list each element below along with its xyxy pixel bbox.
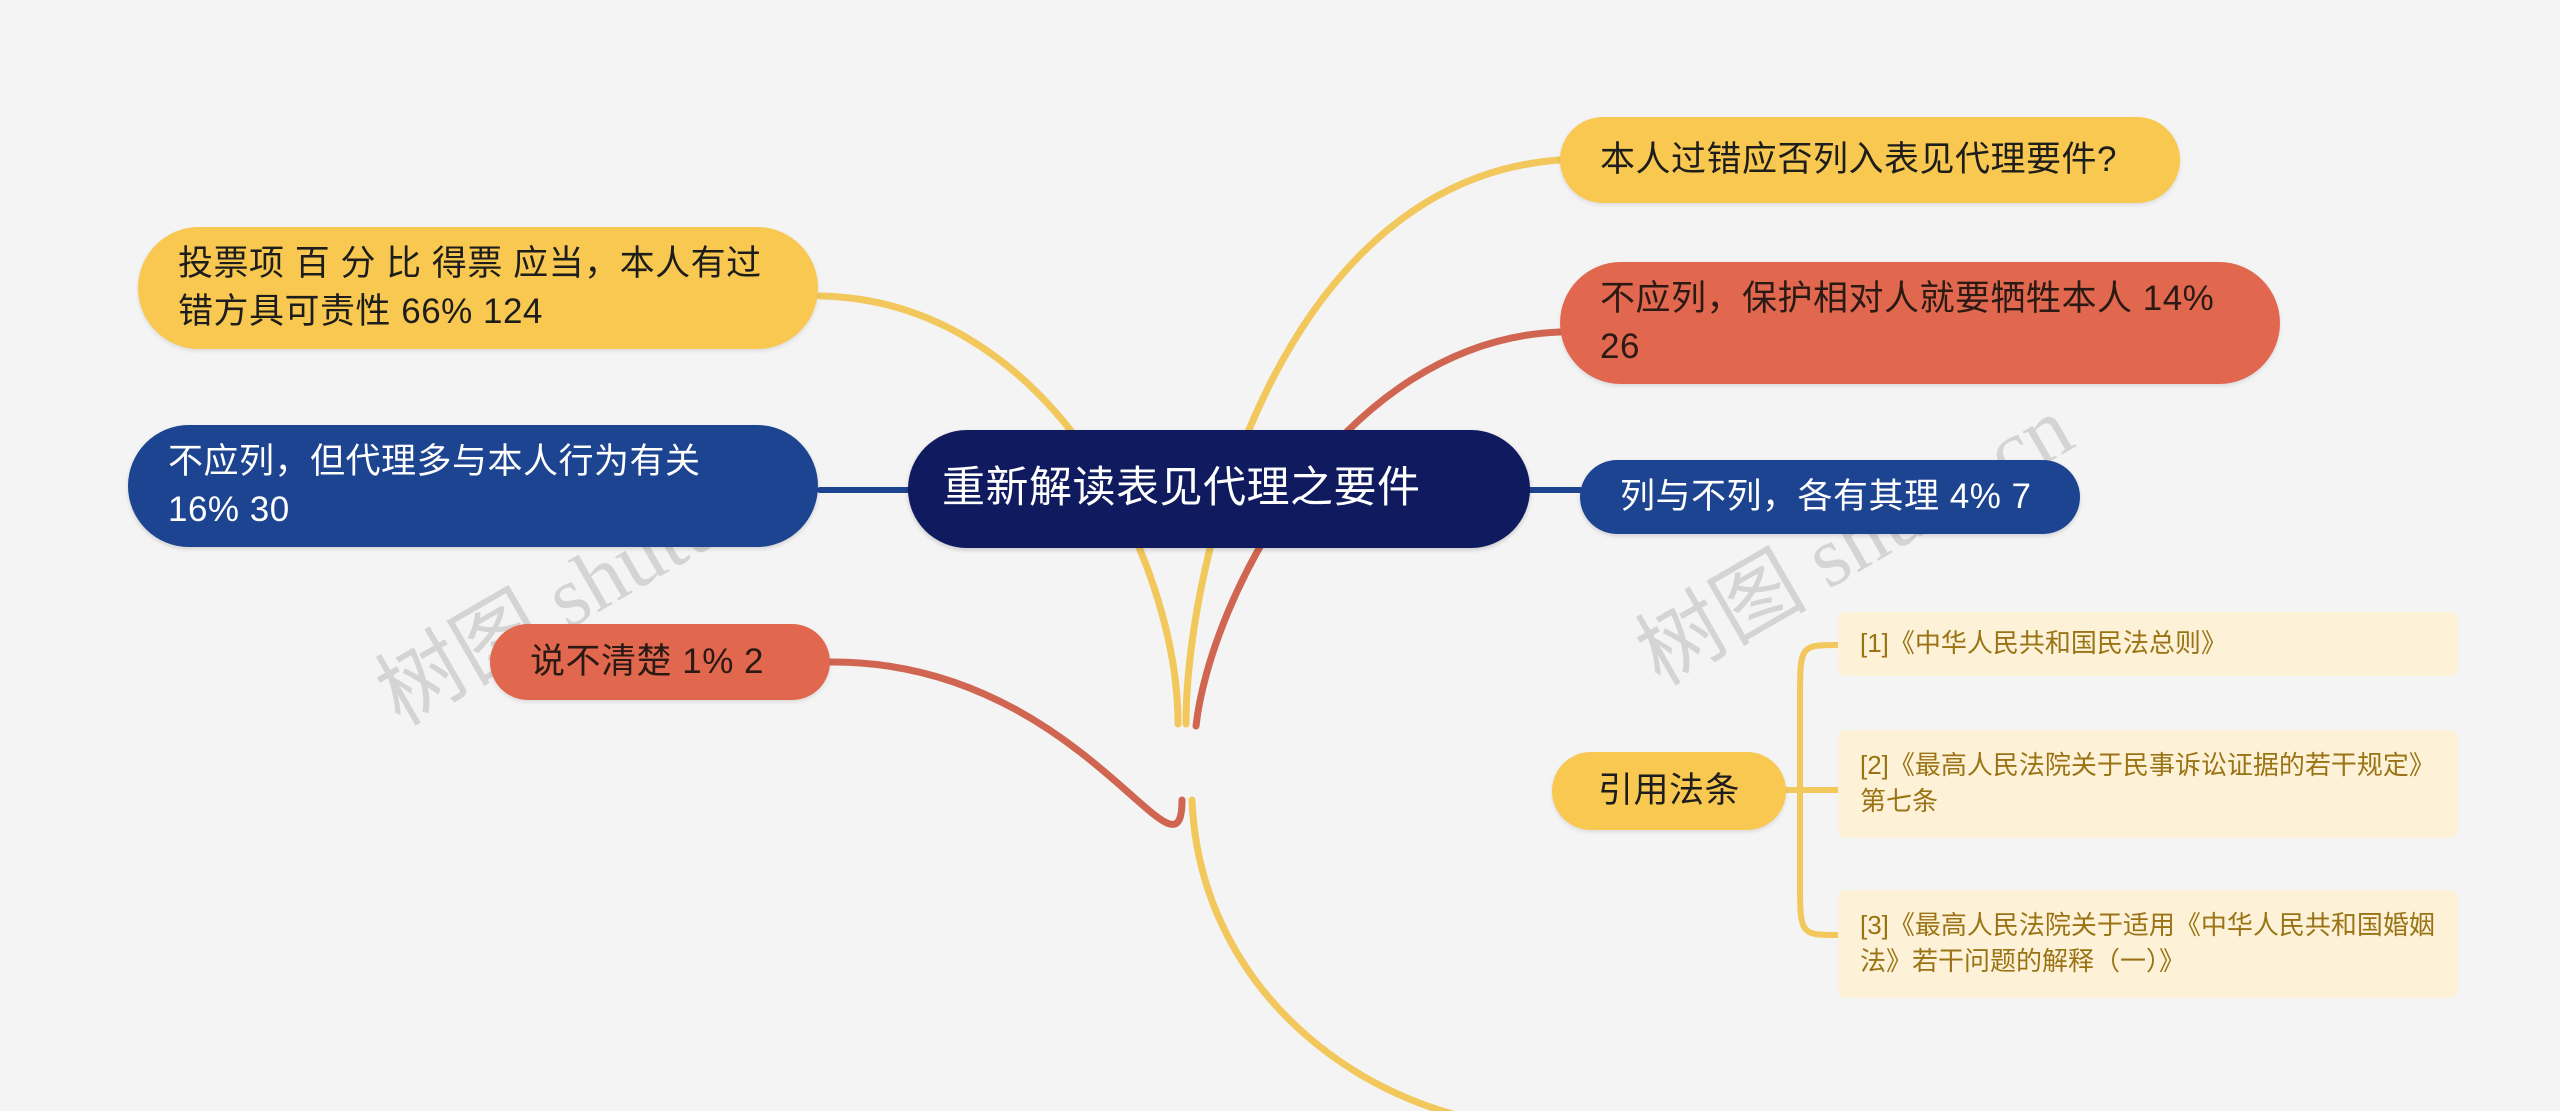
node-question-label: 本人过错应否列入表见代理要件?	[1600, 136, 2140, 184]
node-poll-header-label: 投票项 百 分 比 得票 应当，本人有过错方具可责性 66% 124	[178, 240, 778, 337]
node-question[interactable]: 本人过错应否列入表见代理要件?	[1560, 117, 2180, 203]
node-citations-label: 引用法条	[1592, 767, 1746, 815]
link-root-to-citations	[1192, 800, 1552, 1111]
node-option-unclear[interactable]: 说不清楚 1% 2	[490, 624, 830, 700]
link-root-to-unclear	[830, 662, 1182, 824]
node-option-both-reasonable-label: 列与不列，各有其理 4% 7	[1620, 473, 2040, 521]
reference-item-1[interactable]: [1]《中华人民共和国民法总则》	[1838, 612, 2458, 676]
node-option-both-reasonable[interactable]: 列与不列，各有其理 4% 7	[1580, 460, 2080, 534]
node-option-sacrifice[interactable]: 不应列，保护相对人就要牺牲本人 14% 26	[1560, 262, 2280, 384]
node-citations[interactable]: 引用法条	[1552, 752, 1786, 830]
reference-item-3-label: [3]《最高人民法院关于适用《中华人民共和国婚姻法》若干问题的解释（一）》	[1860, 908, 2436, 980]
root-node-label: 重新解读表见代理之要件	[942, 459, 1496, 518]
node-option-related[interactable]: 不应列，但代理多与本人行为有关 16% 30	[128, 425, 818, 547]
reference-item-3[interactable]: [3]《最高人民法院关于适用《中华人民共和国婚姻法》若干问题的解释（一）》	[1838, 890, 2458, 998]
reference-item-1-label: [1]《中华人民共和国民法总则》	[1860, 626, 2436, 662]
node-option-unclear-label: 说不清楚 1% 2	[530, 638, 790, 686]
node-option-related-label: 不应列，但代理多与本人行为有关 16% 30	[168, 438, 778, 535]
root-node[interactable]: 重新解读表见代理之要件	[908, 430, 1530, 548]
node-option-sacrifice-label: 不应列，保护相对人就要牺牲本人 14% 26	[1600, 275, 2240, 372]
reference-item-2[interactable]: [2]《最高人民法院关于民事诉讼证据的若干规定》 第七条	[1838, 730, 2458, 838]
reference-item-2-label: [2]《最高人民法院关于民事诉讼证据的若干规定》 第七条	[1860, 748, 2436, 820]
node-poll-header[interactable]: 投票项 百 分 比 得票 应当，本人有过错方具可责性 66% 124	[138, 227, 818, 349]
